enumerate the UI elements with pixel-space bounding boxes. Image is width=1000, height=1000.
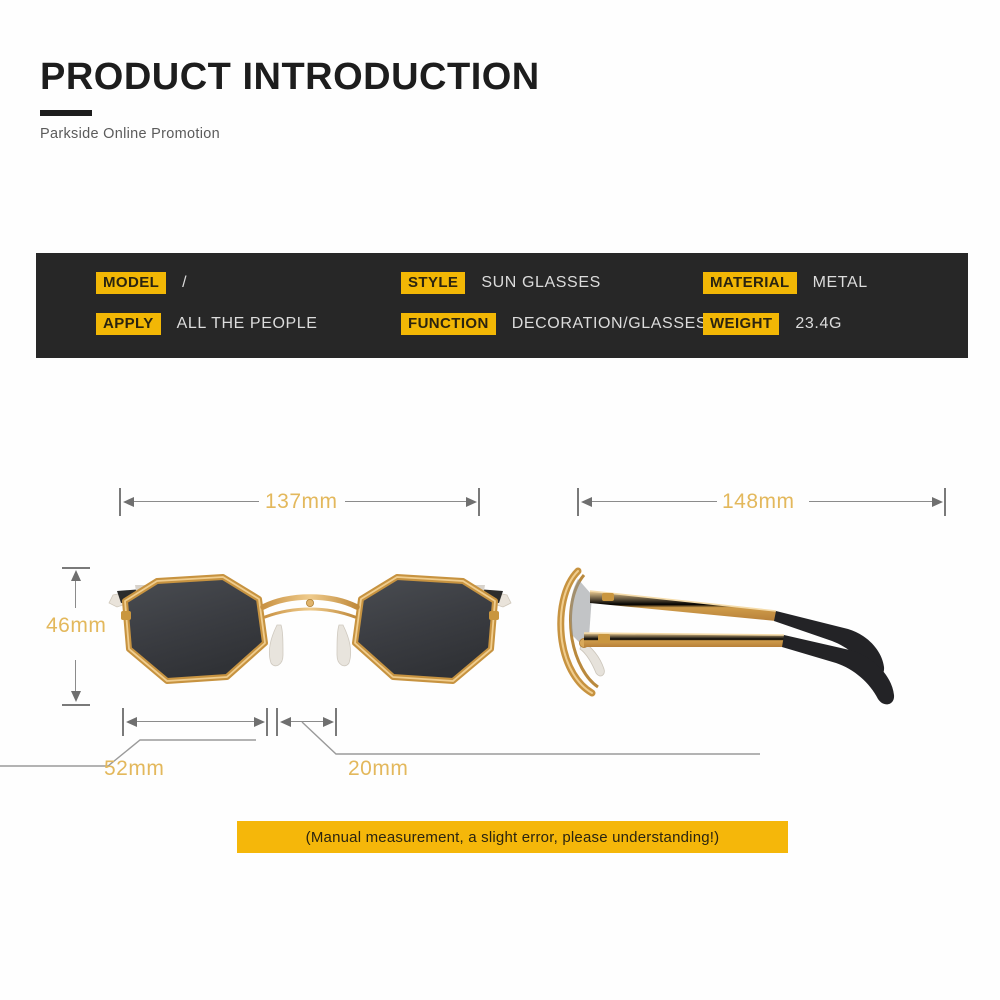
specification-panel: MODEL / STYLE SUN GLASSES MATERIAL METAL… [36, 253, 968, 358]
spec-label-model: MODEL [96, 272, 166, 294]
dimension-label-front-width: 137mm [265, 490, 338, 514]
product-introduction-page: PRODUCT INTRODUCTION Parkside Online Pro… [0, 0, 1000, 1000]
manual-measurement-note: (Manual measurement, a slight error, ple… [306, 829, 720, 846]
spec-value-model: / [182, 274, 187, 292]
spec-label-function: FUNCTION [401, 313, 496, 335]
spec-item-function: FUNCTION DECORATION/GLASSES [401, 311, 707, 337]
spec-value-style: SUN GLASSES [481, 274, 601, 292]
spec-value-apply: ALL THE PEOPLE [177, 315, 318, 333]
spec-label-weight: WEIGHT [703, 313, 779, 335]
spec-value-material: METAL [813, 274, 868, 292]
dimension-label-bridge-width: 20mm [348, 757, 408, 781]
spec-value-function: DECORATION/GLASSES [512, 315, 707, 333]
spec-row: APPLY ALL THE PEOPLE FUNCTION DECORATION… [36, 311, 968, 352]
page-subtitle: Parkside Online Promotion [40, 126, 540, 142]
spec-item-style: STYLE SUN GLASSES [401, 270, 601, 296]
spec-item-apply: APPLY ALL THE PEOPLE [96, 311, 318, 337]
spec-item-material: MATERIAL METAL [703, 270, 868, 296]
page-title: PRODUCT INTRODUCTION [40, 58, 540, 96]
spec-item-weight: WEIGHT 23.4G [703, 311, 842, 337]
sunglasses-side-view [548, 555, 948, 715]
title-underline-rule [40, 110, 92, 116]
spec-label-material: MATERIAL [703, 272, 797, 294]
spec-row: MODEL / STYLE SUN GLASSES MATERIAL METAL [36, 270, 968, 311]
manual-measurement-note-bar: (Manual measurement, a slight error, ple… [237, 821, 788, 853]
dimension-label-lens-width: 52mm [104, 757, 164, 781]
dimension-label-temple-length: 148mm [722, 490, 795, 514]
header: PRODUCT INTRODUCTION Parkside Online Pro… [40, 58, 540, 142]
spec-label-apply: APPLY [96, 313, 161, 335]
spec-label-style: STYLE [401, 272, 465, 294]
spec-value-weight: 23.4G [795, 315, 842, 333]
sunglasses-front-view [95, 555, 525, 715]
spec-item-model: MODEL / [96, 270, 187, 296]
product-figure-area: 137mm 148mm 46mm [0, 450, 1000, 810]
